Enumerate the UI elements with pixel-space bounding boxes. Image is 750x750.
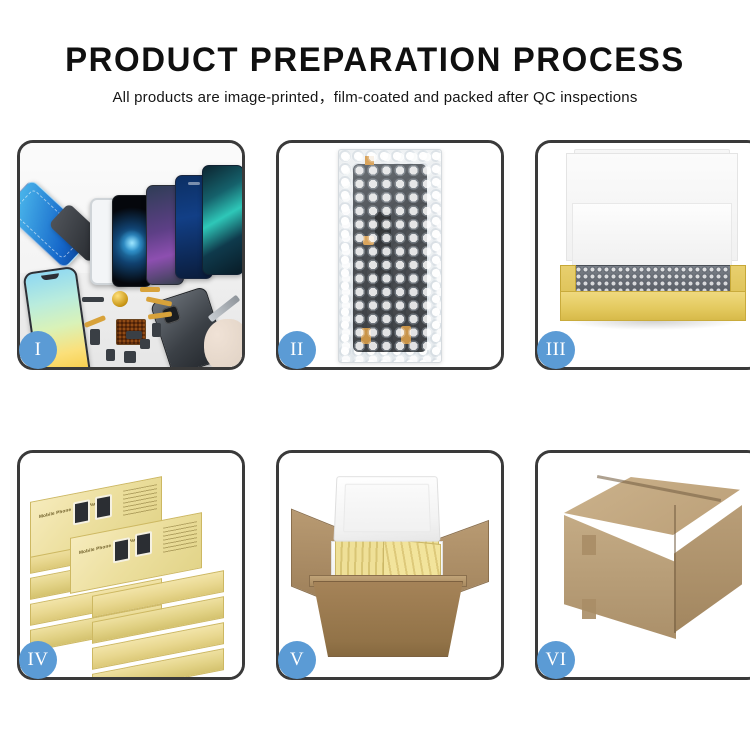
small-part-a [90, 329, 100, 345]
gold-speaker-component [112, 291, 128, 307]
header: PRODUCT PREPARATION PROCESS All products… [0, 0, 750, 107]
small-part-e [126, 331, 142, 339]
box-drop-shadow [568, 321, 738, 330]
process-step-2: II [276, 140, 504, 370]
carton-front-face [564, 515, 676, 639]
step-badge-1: I [19, 331, 57, 369]
process-step-1: I [17, 140, 245, 370]
page-subtitle: All products are image-printed，film-coat… [0, 89, 750, 107]
stacked-retail-boxes-image: Mobile Phone Spare Parts Mobile Phone Sp… [20, 453, 242, 677]
small-part-f [152, 323, 161, 337]
box-screen-thumb-a1 [73, 499, 90, 525]
bubble-texture-overlay [339, 150, 441, 362]
technician-hand [204, 319, 242, 367]
page-title: PRODUCT PREPARATION PROCESS [11, 42, 739, 78]
box-label-back: Mobile Phone Spare Parts [39, 500, 101, 519]
bubble-wrap-bag [338, 149, 442, 363]
step-badge-3: III [537, 331, 575, 369]
box-stack: Mobile Phone Spare Parts Mobile Phone Sp… [30, 475, 238, 665]
process-step-6: VI [535, 450, 750, 680]
box-screen-thumb-a2 [95, 494, 112, 520]
foam-box-lid [333, 476, 440, 541]
carton-with-foam-image [279, 453, 501, 677]
box-screen-thumb-b2 [135, 531, 152, 557]
bubble-wrap-filling [574, 265, 732, 293]
product-preparation-process-page: PRODUCT PREPARATION PROCESS All products… [0, 0, 750, 750]
box-spec-lines-b [163, 521, 197, 554]
lcd-screen-teal [202, 165, 242, 275]
step-badge-4: IV [19, 641, 57, 679]
process-steps-grid: I II [17, 140, 735, 685]
bubble-wrapped-screen-image [279, 143, 501, 367]
process-step-5: V [276, 450, 504, 680]
box-spec-lines-a [123, 484, 157, 517]
small-part-c [124, 351, 136, 363]
box-front-wall [560, 291, 746, 321]
box-screen-thumb-b1 [113, 537, 130, 563]
carton-tape-patch-bottom [582, 599, 596, 619]
process-step-4: Mobile Phone Spare Parts Mobile Phone Sp… [17, 450, 245, 680]
carton-tape-patch-top [582, 535, 596, 555]
step-badge-5: V [278, 641, 316, 679]
process-step-3: III [535, 140, 750, 370]
step-badge-2: II [278, 331, 316, 369]
box-label-front: Mobile Phone Spare Parts [79, 536, 141, 555]
sealed-carton-image [538, 453, 750, 677]
small-part-d [140, 339, 150, 349]
step-badge-6: VI [537, 641, 575, 679]
small-part-b [106, 349, 115, 361]
phone-parts-image [20, 143, 242, 367]
white-foam-sheet [572, 203, 732, 267]
carton-vertical-edge [674, 505, 676, 633]
small-part-bar [82, 297, 104, 302]
carton-body [313, 581, 463, 657]
open-flat-box-image [538, 143, 750, 367]
flex-cable-b [140, 287, 160, 292]
